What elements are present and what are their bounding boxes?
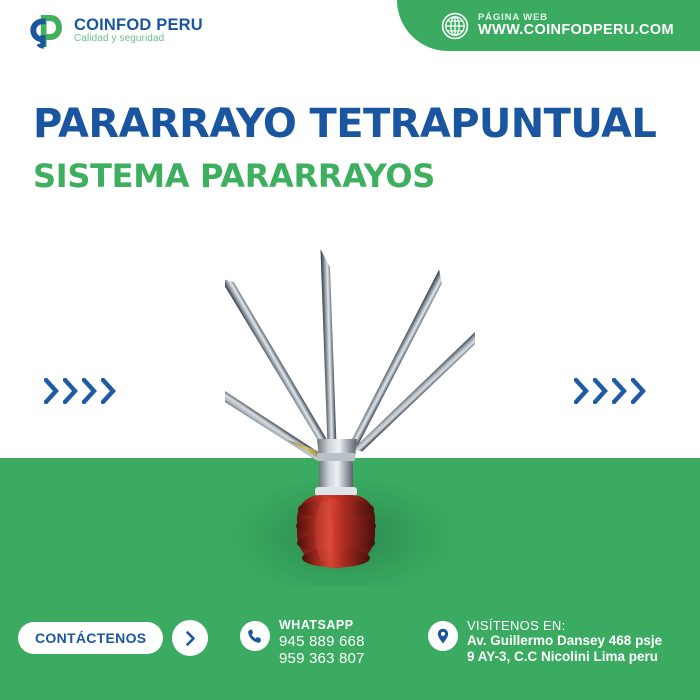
- contact-button[interactable]: CONTÁCTENOS: [18, 622, 163, 654]
- hub-ring: [317, 453, 355, 461]
- chevron-group-left: [44, 378, 117, 404]
- chevron-right-icon: [101, 378, 117, 404]
- chevron-right-icon: [63, 378, 79, 404]
- poster-canvas: PÁGINA WEB WWW.COINFODPERU.COM COINFOD P…: [0, 0, 700, 700]
- arrow-right-icon: [183, 631, 198, 646]
- location-text: VISÍTENOS EN: Av. Guillermo Dansey 468 p…: [467, 618, 662, 665]
- location-address-line-2: 9 AY-3, C.C Nicolini Lima peru: [467, 649, 662, 665]
- phone-icon: [240, 621, 270, 651]
- brand-logo[interactable]: COINFOD PERU Calidad y seguridad: [26, 11, 203, 51]
- chevron-group-right: [574, 378, 647, 404]
- globe-icon: [441, 12, 469, 40]
- stem-flange: [315, 487, 357, 496]
- brand-name: COINFOD PERU: [74, 17, 203, 34]
- whatsapp-phone-1[interactable]: 945 889 668: [279, 633, 365, 651]
- insulator-highlight: [315, 501, 333, 561]
- web-banner-url[interactable]: WWW.COINFODPERU.COM: [478, 23, 674, 38]
- contact-arrow-button[interactable]: [172, 620, 208, 656]
- chevron-right-icon: [44, 378, 60, 404]
- location-label: VISÍTENOS EN:: [467, 618, 662, 633]
- web-banner-text: PÁGINA WEB WWW.COINFODPERU.COM: [478, 13, 674, 38]
- location-address-line-1: Av. Guillermo Dansey 468 psje: [467, 633, 662, 649]
- brand-tagline: Calidad y seguridad: [74, 34, 203, 45]
- stem-shaft: [319, 461, 353, 489]
- coinfod-monogram-icon: [26, 11, 66, 51]
- page-subtitle: SISTEMA PARARRAYOS: [33, 160, 656, 193]
- whatsapp-contact[interactable]: WHATSAPP 945 889 668 959 363 807: [240, 618, 365, 668]
- footer-contact-bar: CONTÁCTENOS WHATSAPP 945 889 668 959 363…: [0, 600, 700, 700]
- chevron-right-icon: [574, 378, 590, 404]
- spike-center: [321, 249, 338, 461]
- product-image: [225, 243, 475, 568]
- page-title: PARARRAYO TETRAPUNTUAL: [33, 104, 656, 146]
- whatsapp-label: WHATSAPP: [279, 618, 365, 633]
- brand-logo-text: COINFOD PERU Calidad y seguridad: [74, 17, 203, 45]
- chevron-right-icon: [631, 378, 647, 404]
- web-banner: PÁGINA WEB WWW.COINFODPERU.COM: [397, 0, 700, 51]
- whatsapp-text: WHATSAPP 945 889 668 959 363 807: [279, 618, 365, 668]
- insulator-rib: [302, 549, 370, 568]
- chevron-right-icon: [612, 378, 628, 404]
- whatsapp-phone-2[interactable]: 959 363 807: [279, 650, 365, 668]
- location-contact[interactable]: VISÍTENOS EN: Av. Guillermo Dansey 468 p…: [428, 618, 662, 665]
- chevron-right-icon: [82, 378, 98, 404]
- spike-right-inner: [342, 269, 448, 456]
- headline-block: PARARRAYO TETRAPUNTUAL SISTEMA PARARRAYO…: [33, 104, 656, 193]
- map-pin-icon: [428, 621, 458, 651]
- chevron-right-icon: [593, 378, 609, 404]
